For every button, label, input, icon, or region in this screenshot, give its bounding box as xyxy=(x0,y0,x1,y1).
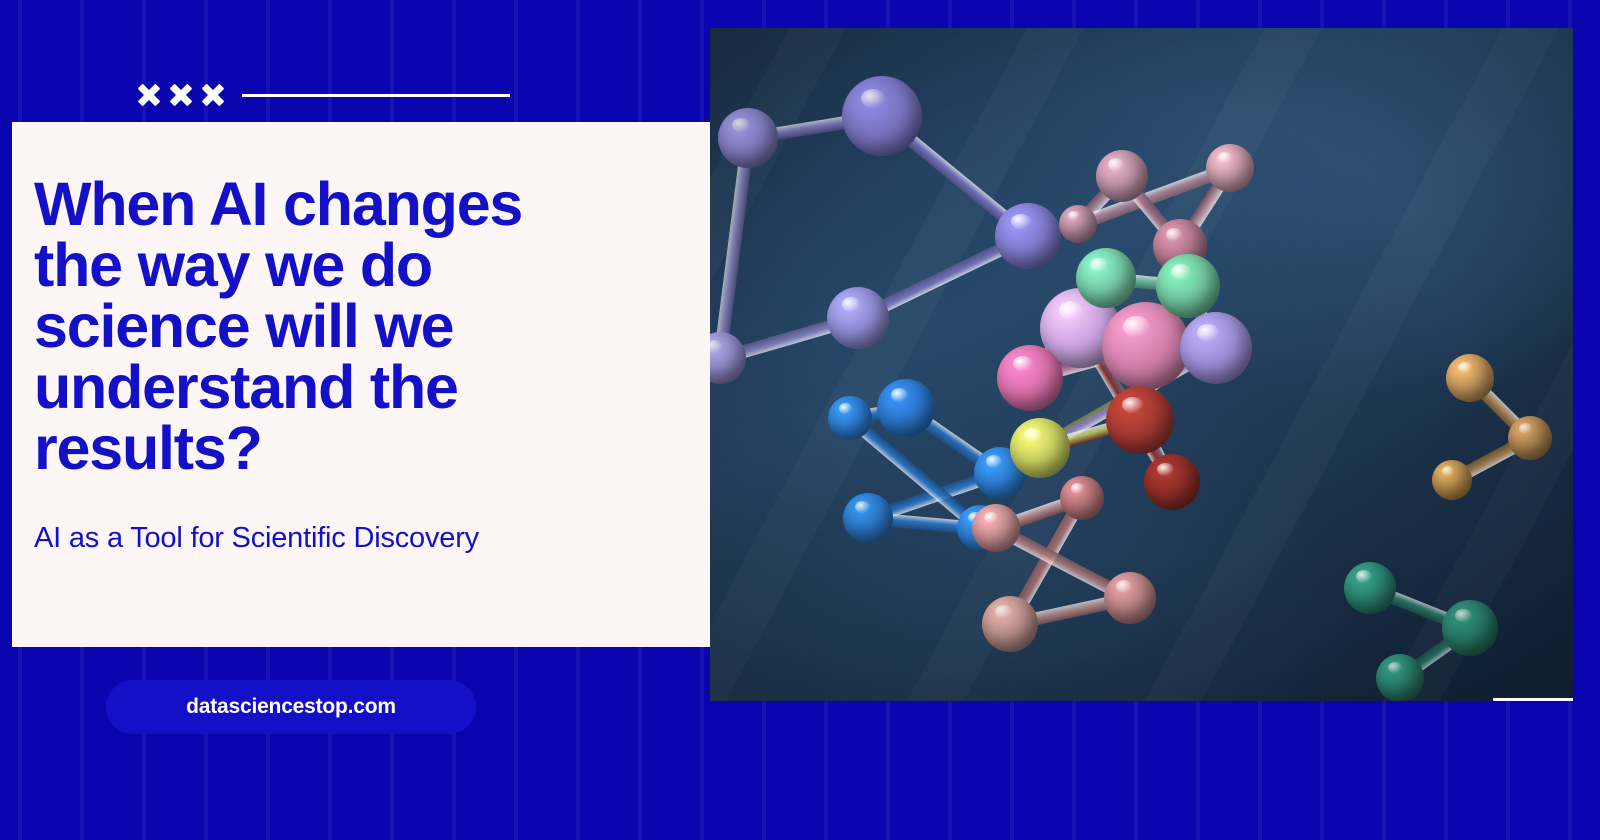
molecule-photo xyxy=(710,28,1573,701)
top-divider-rule xyxy=(242,94,510,97)
poster-canvas: When AI changes the way we do science wi… xyxy=(0,0,1600,840)
x-mark-icon xyxy=(202,84,224,106)
content-card: When AI changes the way we do science wi… xyxy=(12,122,725,647)
cta-button-label: datasciencestop.com xyxy=(186,695,396,719)
x-mark-icon xyxy=(170,84,192,106)
page-title: When AI changes the way we do science wi… xyxy=(34,174,634,479)
website-cta-button[interactable]: datasciencestop.com xyxy=(106,680,476,734)
bottom-divider-rule xyxy=(1493,698,1573,701)
x-mark-icon xyxy=(138,84,160,106)
photo-vignette xyxy=(710,28,1573,701)
top-x-mark-group xyxy=(138,84,224,106)
top-decoration xyxy=(138,84,510,106)
bottom-decoration xyxy=(1493,688,1573,701)
subtitle: AI as a Tool for Scientific Discovery xyxy=(34,522,479,555)
